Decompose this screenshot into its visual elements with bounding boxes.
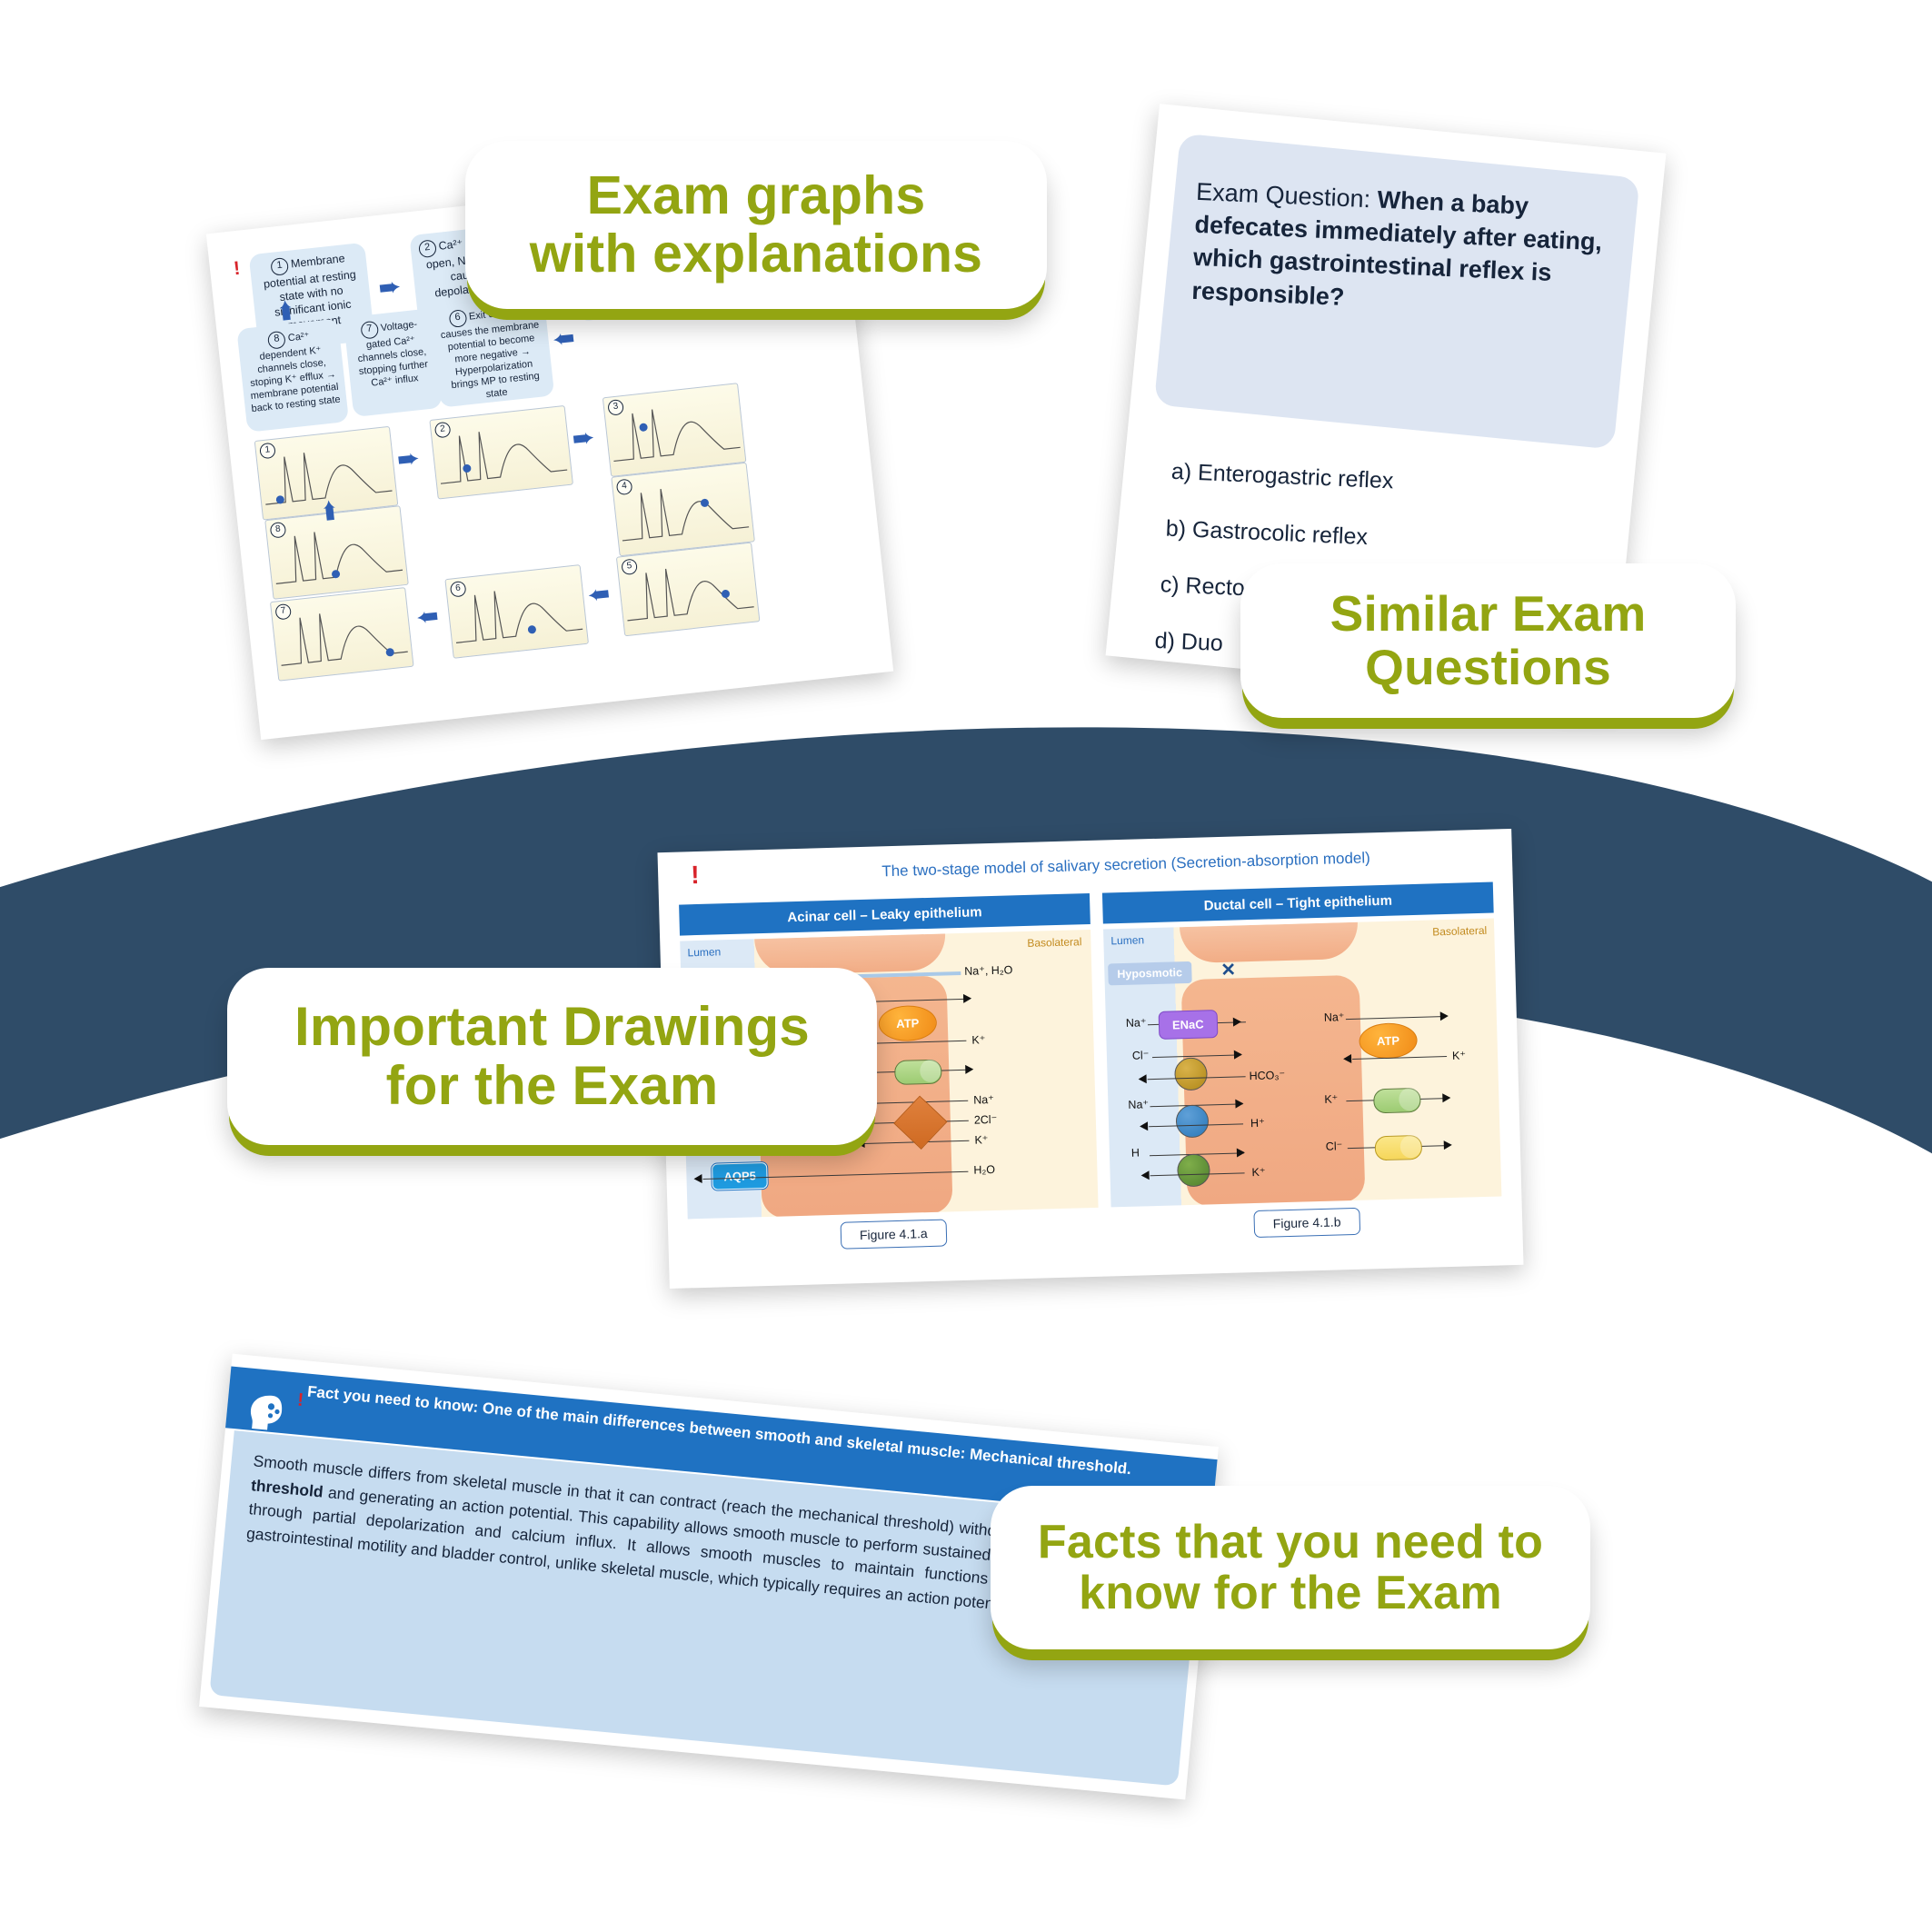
arrow-right-icon: ➨ <box>377 274 403 304</box>
step-text: Ca²⁺ dependent K⁺ channels close, stopin… <box>250 331 341 415</box>
lumen-label: Lumen <box>1110 933 1144 947</box>
answer-option-a[interactable]: a) Enterogastric reflex <box>1170 459 1589 503</box>
diagram-title: The two-stage model of salivary secretio… <box>767 846 1485 884</box>
graph-panel-3: 3 <box>603 383 747 477</box>
arrow-up-icon: ➨ <box>315 497 345 523</box>
arrow-left-icon: ➨ <box>414 602 440 632</box>
step-number: 7 <box>360 321 379 340</box>
blocked-pathway-icon: ✕ <box>1220 958 1236 981</box>
cl-channel-icon <box>1375 1135 1423 1160</box>
ion-label-k: K⁺ <box>1324 1091 1338 1105</box>
action-potential-trace <box>603 383 745 475</box>
ion-label-na: Na⁺ <box>973 1092 994 1107</box>
step-number: 2 <box>418 239 437 258</box>
arrow-left-icon: ➨ <box>586 580 612 610</box>
flow-step-7: 7Voltage-gated Ca²⁺ channels close, stop… <box>344 308 443 417</box>
ion-label-na: Na⁺ <box>1126 1015 1147 1030</box>
arrow-left-icon: ➨ <box>551 324 576 354</box>
step-number: 8 <box>267 331 286 350</box>
flow-step-8: 8Ca²⁺ dependent K⁺ channels close, stopi… <box>236 318 349 432</box>
label-important-drawings-text: Important Drawings for the Exam <box>294 998 810 1116</box>
ion-label-k: K⁺ <box>1452 1048 1466 1061</box>
arrow-right-icon <box>1440 1011 1449 1021</box>
atp-pump-icon: ATP <box>1359 1022 1418 1060</box>
label-exam-graphs[interactable]: Exam graphs with explanations <box>465 141 1047 309</box>
arrow-right-icon <box>1442 1093 1450 1102</box>
hyposmotic-badge: Hyposmotic <box>1108 961 1191 986</box>
arrow-right-icon <box>1444 1140 1452 1150</box>
ion-label-cl: Cl⁻ <box>1326 1139 1343 1153</box>
exam-question: Exam Question: When a baby defecates imm… <box>1191 175 1608 324</box>
arrow-left-icon <box>693 1174 702 1183</box>
arrow-left-icon <box>1343 1054 1351 1063</box>
arrow-up-icon: ➨ <box>272 297 302 323</box>
ion-label-cl: Cl⁻ <box>1132 1048 1150 1062</box>
arrow-left-icon <box>1140 1121 1148 1130</box>
cell-top-shape <box>1180 922 1359 963</box>
ductal-cell-panel: Ductal cell – Tight epithelium Lumen Epi… <box>1102 882 1503 1248</box>
label-exam-graphs-text: Exam graphs with explanations <box>530 167 982 283</box>
ion-label-hco3: HCO₃⁻ <box>1249 1068 1285 1082</box>
arrow-right-icon <box>1235 1099 1243 1108</box>
graph-panel-6: 6 <box>444 564 589 659</box>
k-channel-icon <box>1373 1088 1421 1113</box>
figure-caption-b: Figure 4.1.b <box>1253 1208 1360 1238</box>
ion-label-2cl: 2Cl⁻ <box>974 1112 998 1127</box>
arrow-right-icon <box>965 1065 973 1074</box>
arrow-right-icon: ➨ <box>571 424 596 454</box>
action-potential-trace <box>617 543 759 635</box>
brain-head-icon <box>242 1388 291 1437</box>
graph-panel-4: 4 <box>611 463 755 557</box>
arrow-left-icon <box>1139 1074 1147 1083</box>
arrow-right-icon <box>1233 1017 1241 1026</box>
action-potential-trace <box>430 406 572 498</box>
ion-label-k: K⁺ <box>971 1032 985 1046</box>
acinar-panel-header: Acinar cell – Leaky epithelium <box>679 893 1090 936</box>
alert-icon: ! <box>233 258 242 281</box>
ion-label-paracellular: Na⁺, H₂O <box>964 962 1013 977</box>
step-number: 6 <box>448 309 467 328</box>
label-important-drawings[interactable]: Important Drawings for the Exam <box>227 968 877 1145</box>
alert-icon: ! <box>691 861 700 890</box>
arrow-right-icon <box>1234 1050 1242 1059</box>
ion-label-h: H⁺ <box>1250 1116 1265 1130</box>
graph-panel-2: 2 <box>429 405 573 500</box>
graph-panel-7: 7 <box>270 587 414 682</box>
ion-label-na: Na⁺ <box>1128 1097 1149 1111</box>
flow-step-6: 6Exit of K⁺ ion causes the membrane pote… <box>430 294 554 408</box>
k-channel-icon <box>894 1060 942 1085</box>
arrow-right-icon <box>1237 1148 1245 1157</box>
action-potential-trace <box>445 565 587 657</box>
action-potential-trace <box>271 588 413 680</box>
basolateral-label: Basolateral <box>1027 935 1081 950</box>
label-facts-needed-text: Facts that you need to know for the Exam <box>1038 1517 1543 1618</box>
answer-option-b[interactable]: b) Gastrocolic reflex <box>1165 515 1584 560</box>
ion-label-h: H <box>1131 1147 1140 1160</box>
arrow-right-icon: ➨ <box>395 445 421 475</box>
label-facts-needed[interactable]: Facts that you need to know for the Exam <box>991 1486 1590 1649</box>
graph-panel-5: 5 <box>616 543 761 637</box>
enac-channel-icon: ENaC <box>1159 1010 1219 1040</box>
arrow-right-icon <box>963 994 971 1003</box>
basolateral-label: Basolateral <box>1432 924 1487 939</box>
arrow-left-icon <box>1140 1170 1149 1180</box>
arrow-left-icon <box>856 1139 864 1148</box>
ion-label-k: K⁺ <box>974 1132 988 1146</box>
ion-label-k: K⁺ <box>1251 1165 1265 1179</box>
ion-label-na: Na⁺ <box>1324 1010 1345 1024</box>
step-number: 1 <box>270 257 289 276</box>
ion-label-h2o: H₂O <box>973 1163 995 1177</box>
label-similar-questions-text: Similar Exam Questions <box>1330 587 1647 695</box>
figure-caption-a: Figure 4.1.a <box>841 1220 948 1250</box>
ductal-panel-body: Lumen Epithelial Cell Basolateral Hyposm… <box>1103 919 1501 1208</box>
transport-arrow-track <box>1352 1056 1447 1060</box>
lumen-label: Lumen <box>687 945 721 959</box>
question-lead: Exam Question: <box>1196 178 1371 213</box>
action-potential-trace <box>612 463 753 555</box>
ductal-panel-header: Ductal cell – Tight epithelium <box>1102 882 1494 924</box>
alert-icon: ! <box>296 1389 304 1413</box>
label-similar-questions[interactable]: Similar Exam Questions <box>1240 563 1736 718</box>
